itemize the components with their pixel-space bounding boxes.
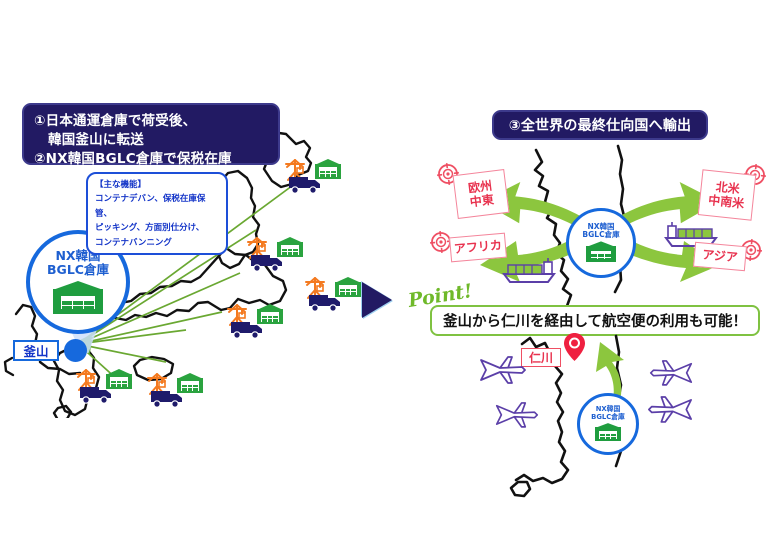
delivery-truck-icon bbox=[309, 293, 342, 312]
infographic-canvas: 釜山 NX韓国 BGLC倉庫 【主な機能】 コンテナデバン、保税在庫保管、 ピッ… bbox=[0, 0, 778, 550]
logistics-cluster-kanto bbox=[303, 276, 361, 316]
logistics-cluster-kansai bbox=[145, 372, 203, 412]
stamp-africa-line1: アフリカ bbox=[453, 238, 502, 256]
busan-label: 釜山 bbox=[13, 340, 59, 361]
bubble-left-line2: BGLC倉庫 bbox=[47, 262, 109, 277]
header-left-line-3: ②NX韓国BGLC倉庫で保税在庫 bbox=[34, 150, 268, 169]
destination-stamp-asia: アジア bbox=[693, 242, 747, 271]
busan-marker bbox=[64, 339, 87, 362]
warehouse-icon bbox=[595, 423, 621, 442]
warehouse-icon bbox=[586, 241, 616, 263]
step-1-2-header: ①日本通運倉庫で荷受後、 韓国釜山に転送 ②NX韓国BGLC倉庫で保税在庫 bbox=[22, 103, 280, 165]
nx-korea-bglc-warehouse-bubble-bottom: NX韓国 BGLC倉庫 bbox=[577, 393, 639, 455]
functions-title: 【主な機能】 bbox=[95, 179, 219, 192]
bubble-center-line2: BGLC倉庫 bbox=[582, 230, 619, 239]
logistics-cluster-tohoku bbox=[245, 236, 303, 276]
airplane-icon bbox=[648, 356, 694, 388]
header-left-line-2: 韓国釜山に転送 bbox=[34, 131, 268, 150]
stamp-north-america-line2: 中南米 bbox=[708, 193, 745, 211]
stamp-asia-line1: アジア bbox=[702, 248, 739, 265]
airplane-icon bbox=[646, 392, 694, 425]
functions-line-1: コンテナデバン、保税在庫保管、 bbox=[95, 192, 219, 221]
step-3-header: ③全世界の最終仕向国へ輸出 bbox=[492, 110, 708, 140]
delivery-truck-icon bbox=[289, 175, 322, 194]
header-right-text: ③全世界の最終仕向国へ輸出 bbox=[509, 115, 691, 135]
functions-line-2: ピッキング、方面別仕分け、 bbox=[95, 221, 219, 236]
point-message-text: 釜山から仁川を経由して航空便の利用も可能！ bbox=[443, 310, 747, 331]
delivery-truck-icon bbox=[231, 320, 264, 339]
nx-korea-bglc-warehouse-bubble-center: NX韓国 BGLC倉庫 bbox=[566, 208, 636, 278]
logistics-cluster-chubu bbox=[225, 303, 283, 343]
container-ship-icon bbox=[502, 258, 560, 284]
delivery-truck-icon bbox=[151, 389, 184, 408]
logistics-cluster-hokkaido bbox=[283, 158, 341, 198]
airplane-icon bbox=[494, 398, 540, 430]
functions-line-3: コンテナバンニング bbox=[95, 236, 219, 251]
logistics-cluster-kyushu bbox=[74, 368, 132, 408]
header-left-line-1: ①日本通運倉庫で荷受後、 bbox=[34, 112, 268, 131]
main-functions-callout: 【主な機能】 コンテナデバン、保税在庫保管、 ピッキング、方面別仕分け、 コンテ… bbox=[86, 172, 228, 255]
destination-stamp-north-america: 北米 中南米 bbox=[698, 169, 757, 220]
delivery-truck-icon bbox=[251, 253, 284, 272]
flow-arrow-icon bbox=[362, 282, 392, 318]
stamp-europe-line2: 中東 bbox=[469, 193, 495, 210]
airplane-icon bbox=[478, 352, 528, 386]
delivery-truck-icon bbox=[80, 385, 113, 404]
map-pin-icon bbox=[563, 332, 586, 362]
destination-stamp-europe: 欧州 中東 bbox=[453, 169, 510, 219]
warehouse-icon bbox=[53, 281, 103, 315]
destination-stamp-africa: アフリカ bbox=[449, 233, 507, 263]
bubble-bottom-line2: BGLC倉庫 bbox=[591, 413, 625, 421]
